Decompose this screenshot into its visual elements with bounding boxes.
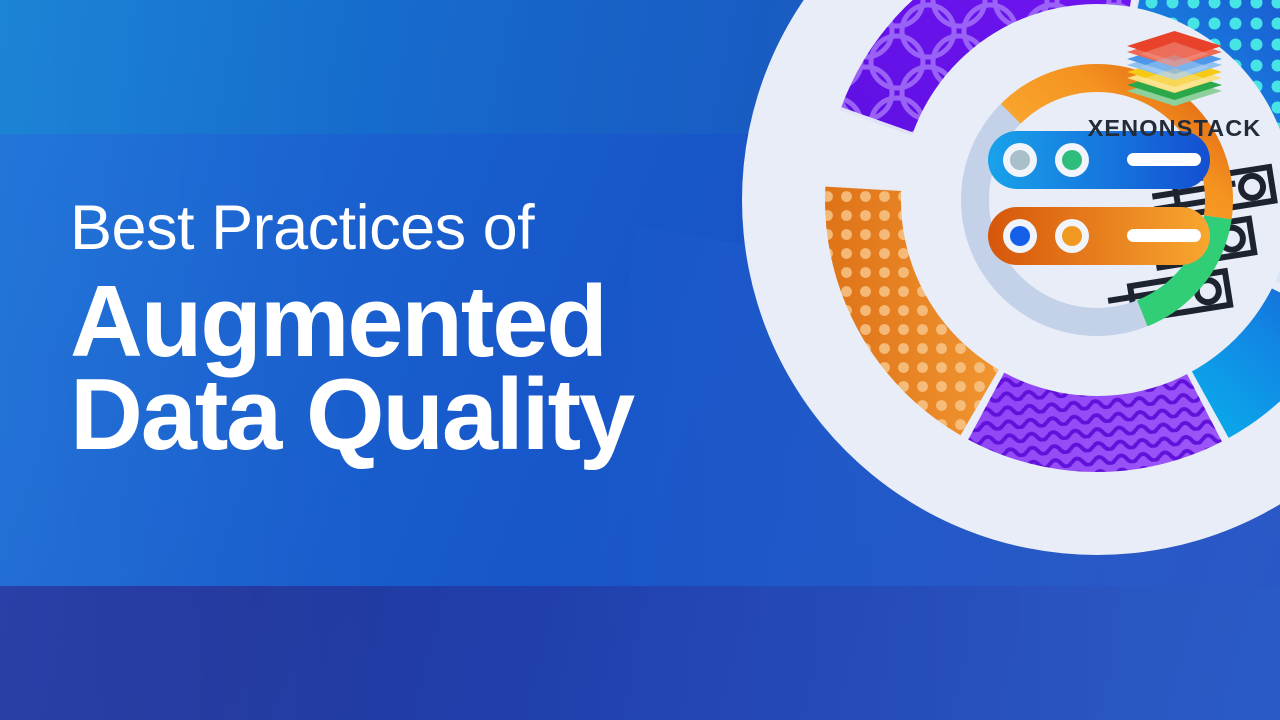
slide-canvas: Best Practices of Augmented Data Quality: [0, 0, 1280, 720]
title-eyebrow: Best Practices of: [70, 196, 770, 260]
page-title: Augmented Data Quality: [70, 270, 770, 467]
title-block: Best Practices of Augmented Data Quality: [70, 196, 770, 467]
brand-name: XENONSTACK: [1087, 115, 1262, 142]
brand-lockup: XENONSTACK: [1087, 18, 1262, 142]
server-row-bottom: [988, 207, 1210, 265]
title-line-2: Data Quality: [70, 363, 770, 467]
stacked-layers-icon: [1087, 18, 1262, 114]
